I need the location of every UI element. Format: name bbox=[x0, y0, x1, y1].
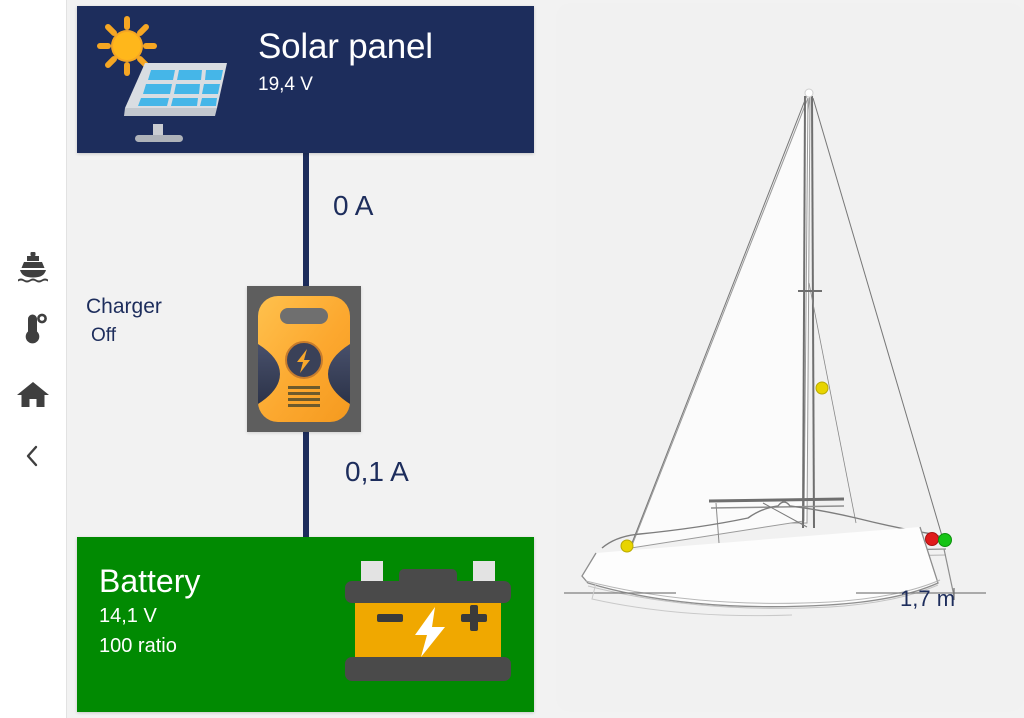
sidebar bbox=[0, 0, 67, 718]
solar-card-text: Solar panel 19,4 V bbox=[258, 26, 433, 98]
battery-icon bbox=[341, 557, 516, 687]
content-area: Solar panel 19,4 V 0 A 0,1 A Charger Off bbox=[67, 0, 1024, 718]
chevron-left-icon bbox=[22, 443, 44, 469]
energy-flow-diagram: Solar panel 19,4 V 0 A 0,1 A Charger Off bbox=[77, 0, 544, 718]
charger-state-label: Off bbox=[86, 322, 162, 350]
battery-ratio-value: 100 ratio bbox=[99, 631, 200, 661]
thermometer-icon bbox=[16, 311, 50, 345]
sidebar-item-home[interactable] bbox=[0, 366, 66, 422]
sidebar-item-collapse[interactable] bbox=[0, 428, 66, 484]
charger-icon bbox=[254, 292, 354, 426]
wire-solar-to-charger bbox=[303, 146, 309, 290]
masthead-light-icon bbox=[816, 382, 828, 394]
stern-light-icon bbox=[621, 540, 633, 552]
sidebar-item-boat[interactable] bbox=[0, 238, 66, 294]
battery-card[interactable]: Battery 14,1 V 100 ratio bbox=[77, 537, 534, 712]
solar-title: Solar panel bbox=[258, 26, 433, 68]
solar-panel-card[interactable]: Solar panel 19,4 V bbox=[77, 6, 534, 153]
app-root: Solar panel 19,4 V 0 A 0,1 A Charger Off bbox=[0, 0, 1024, 718]
boat-profile-card[interactable]: 1,7 m bbox=[556, 3, 1024, 712]
solar-voltage-value: 19,4 V bbox=[258, 72, 433, 98]
draft-label: 1,7 m bbox=[900, 586, 955, 612]
current-top-label: 0 A bbox=[333, 190, 373, 222]
solar-panel-icon bbox=[89, 16, 239, 146]
battery-voltage-value: 14,1 V bbox=[99, 601, 200, 631]
battery-title: Battery bbox=[99, 561, 200, 601]
charger-text-block: Charger Off bbox=[86, 292, 162, 350]
charger-card[interactable] bbox=[247, 286, 361, 432]
battery-card-text: Battery 14,1 V 100 ratio bbox=[99, 561, 200, 661]
port-light-icon bbox=[926, 533, 939, 546]
wire-charger-to-battery bbox=[303, 428, 309, 540]
sidebar-item-temperature[interactable] bbox=[0, 300, 66, 356]
boat-icon bbox=[16, 249, 50, 283]
home-icon bbox=[16, 378, 50, 410]
current-bottom-label: 0,1 A bbox=[345, 456, 409, 488]
charger-name-label: Charger bbox=[86, 292, 162, 322]
starboard-light-icon bbox=[939, 534, 952, 547]
